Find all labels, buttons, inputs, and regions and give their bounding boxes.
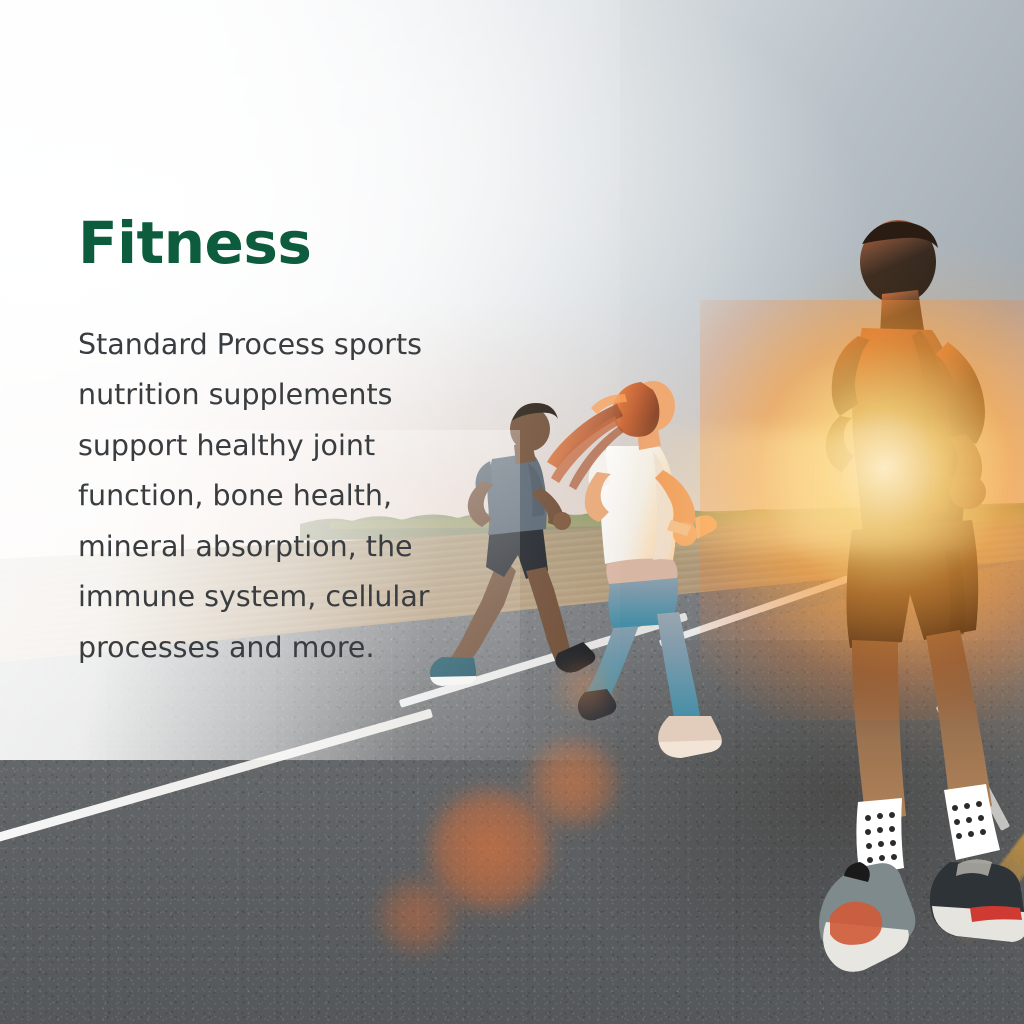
runner-female-middle — [545, 368, 765, 808]
copy-block: Fitness Standard Process sports nutritio… — [78, 213, 478, 673]
page-title: Fitness — [78, 213, 478, 274]
fitness-hero-banner: Fitness Standard Process sports nutritio… — [0, 0, 1024, 1024]
body-paragraph: Standard Process sports nutrition supple… — [78, 320, 450, 673]
runner-male-foreground — [790, 218, 1024, 1024]
